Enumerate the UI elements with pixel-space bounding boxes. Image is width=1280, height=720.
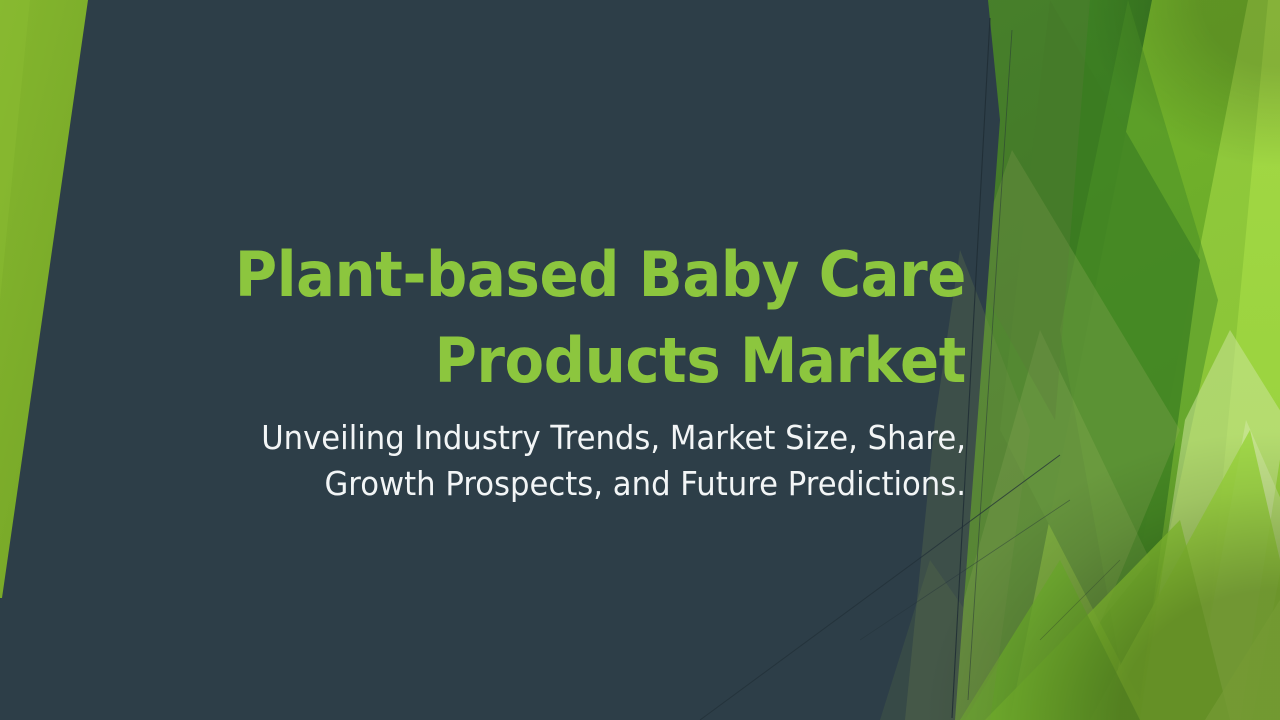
presentation-slide: Plant-based Baby Care Products Market Un… — [0, 0, 1280, 720]
page-title: Plant-based Baby Care Products Market — [207, 232, 966, 403]
title-text-block: Plant-based Baby Care Products Market Un… — [150, 232, 966, 532]
slide-subtitle: Unveiling Industry Trends, Market Size, … — [207, 415, 966, 506]
